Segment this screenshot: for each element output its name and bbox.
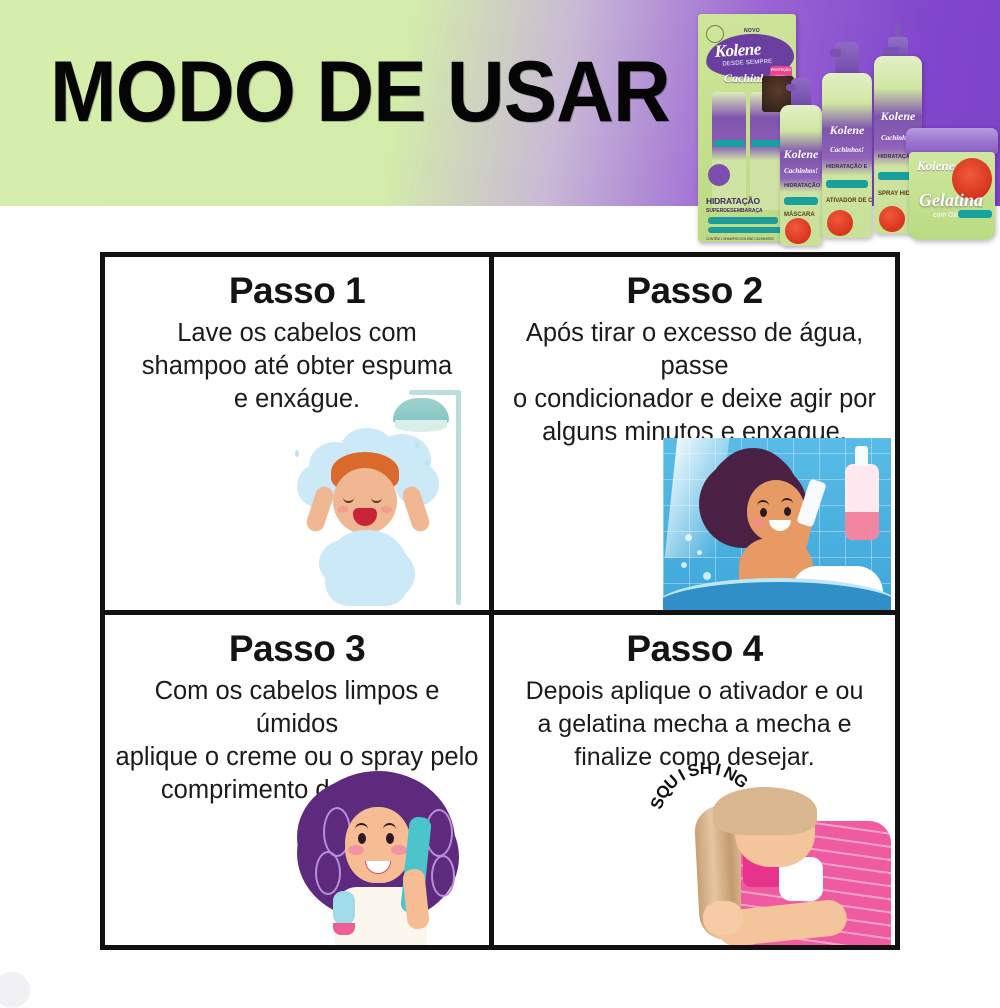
girl4-hair-top [713, 787, 817, 835]
step-4-title: Passo 4 [498, 627, 891, 671]
shower-pipe-vertical [456, 390, 461, 605]
step-2-title: Passo 2 [498, 269, 891, 313]
girl4-hand [703, 901, 743, 935]
bottle-small-body: Kolene Cachinhos! HIDRATAÇÃO MÁSCARA [780, 105, 822, 246]
bottle-small-brand: Kolene [784, 147, 819, 162]
bubble-4 [703, 572, 711, 580]
bottle-small-teal-strip [784, 197, 818, 205]
bottle-medium-brand: Kolene [830, 123, 865, 138]
jar-product-name: Gelatina [919, 190, 983, 211]
bottle-small-line: Cachinhos! [784, 167, 818, 175]
water-drop-3 [295, 450, 299, 457]
step-cell-4: Passo 4 Depois aplique o ativador e ou a… [494, 615, 895, 945]
product-bottle-small: Kolene Cachinhos! HIDRATAÇÃO MÁSCARA [780, 78, 822, 246]
bottle-medium-claim: HIDRATAÇÃO E [826, 164, 867, 170]
girl3-brow-left [355, 823, 368, 830]
step-4-illustration: SQUISHING [651, 769, 891, 945]
header-banner: MODO DE USAR NOVO Kolene DESDE SEMPRE Ca… [0, 0, 1000, 206]
hair-curl-2 [315, 851, 341, 895]
step-cell-2: Passo 2 Após tirar o excesso de água, pa… [494, 257, 895, 615]
footer-decoration-dot [0, 972, 30, 1008]
box-contents-line-1: CONTÉM 1 SHAMPOO KOLENE CACHINHOS [706, 237, 773, 241]
bottle-medium-body: Kolene Cachinhos! HIDRATAÇÃO E ATIVADOR … [822, 73, 872, 238]
kid-cheek-right [381, 506, 392, 513]
bubble-1 [685, 534, 692, 541]
girl-brow-right [781, 498, 793, 504]
box-inner-bottle-1 [712, 92, 746, 210]
step-cell-1: Passo 1 Lave os cabelos com shampoo até … [105, 257, 494, 615]
bottle-spray-character [879, 206, 905, 232]
girl-brow-left [757, 500, 769, 506]
box-claim-sub: SUPERDESEMBARAÇA [706, 208, 763, 214]
girl3-eye-left [358, 833, 366, 844]
girl3-cheek-left [348, 845, 364, 855]
box-brand-sub: DESDE SEMPRE [722, 59, 772, 68]
water-drop-1 [415, 442, 419, 449]
water-drop-2 [425, 460, 429, 467]
box-teal-strip-2 [752, 140, 780, 147]
steps-table: Passo 1 Lave os cabelos com shampoo até … [100, 252, 900, 950]
box-round-seal [708, 164, 730, 186]
kid-cheek-left [337, 506, 348, 513]
jar-lid [906, 128, 998, 154]
jar-brand: Kolene [917, 158, 955, 174]
girl-cheek-left [752, 518, 766, 527]
box-claim: HIDRATAÇÃO [706, 196, 760, 206]
girl3-sleeve-cuff [333, 923, 355, 935]
product-photo: NOVO Kolene DESDE SEMPRE Cachinhos! PROT… [688, 0, 1000, 250]
squishing-letter: H [700, 759, 713, 779]
step-1-title: Passo 1 [109, 269, 485, 313]
step-2-illustration [663, 438, 891, 610]
bottle-medium-variant: ATIVADOR DE CACHOS [826, 198, 872, 204]
page-title: MODO DE USAR [50, 44, 670, 140]
box-teal-strip-1 [714, 140, 744, 147]
girl-eye-left [760, 508, 767, 517]
bubble-3 [681, 562, 687, 568]
step-2-text: Após tirar o excesso de água, passe o co… [498, 317, 891, 449]
girl-eye-right [784, 507, 791, 516]
box-ingredient-strip-1 [708, 217, 778, 224]
box-brand-name: Kolene [714, 39, 761, 61]
bottle-medium-teal-strip [826, 180, 868, 188]
bottle-small-character [785, 218, 811, 244]
product-jar-gelatina: Kolene Gelatina com Glitter [906, 128, 998, 242]
step-3-illustration [287, 765, 483, 945]
step-3-title: Passo 3 [109, 627, 485, 671]
step-cell-3: Passo 3 Com os cabelos limpos e úmidos a… [105, 615, 494, 945]
soap-dispenser-bottle [845, 464, 879, 540]
girl3-brow-right [383, 823, 396, 830]
girl3-sleeve [333, 891, 355, 925]
bubble-2 [697, 550, 702, 555]
shower-head-plate [395, 420, 447, 432]
foam-body-2 [359, 548, 415, 600]
bottle-small-claim: HIDRATAÇÃO [784, 183, 820, 189]
step-1-illustration [255, 390, 485, 610]
jar-teal-strip [958, 210, 992, 218]
bottle-medium-line: Cachinhos! [830, 146, 864, 154]
girl3-cheek-right [391, 845, 407, 855]
product-bottle-medium: Kolene Cachinhos! HIDRATAÇÃO E ATIVADOR … [822, 42, 872, 238]
girl3-eye-right [386, 833, 394, 844]
hair-curl-4 [431, 855, 455, 897]
shower-pipe-horizontal [409, 390, 461, 395]
box-ingredient-strip-2 [708, 227, 784, 233]
bottle-spray-brand: Kolene [881, 109, 916, 124]
bottle-medium-character [827, 210, 853, 236]
jar-body: Kolene Gelatina com Glitter [909, 152, 995, 240]
